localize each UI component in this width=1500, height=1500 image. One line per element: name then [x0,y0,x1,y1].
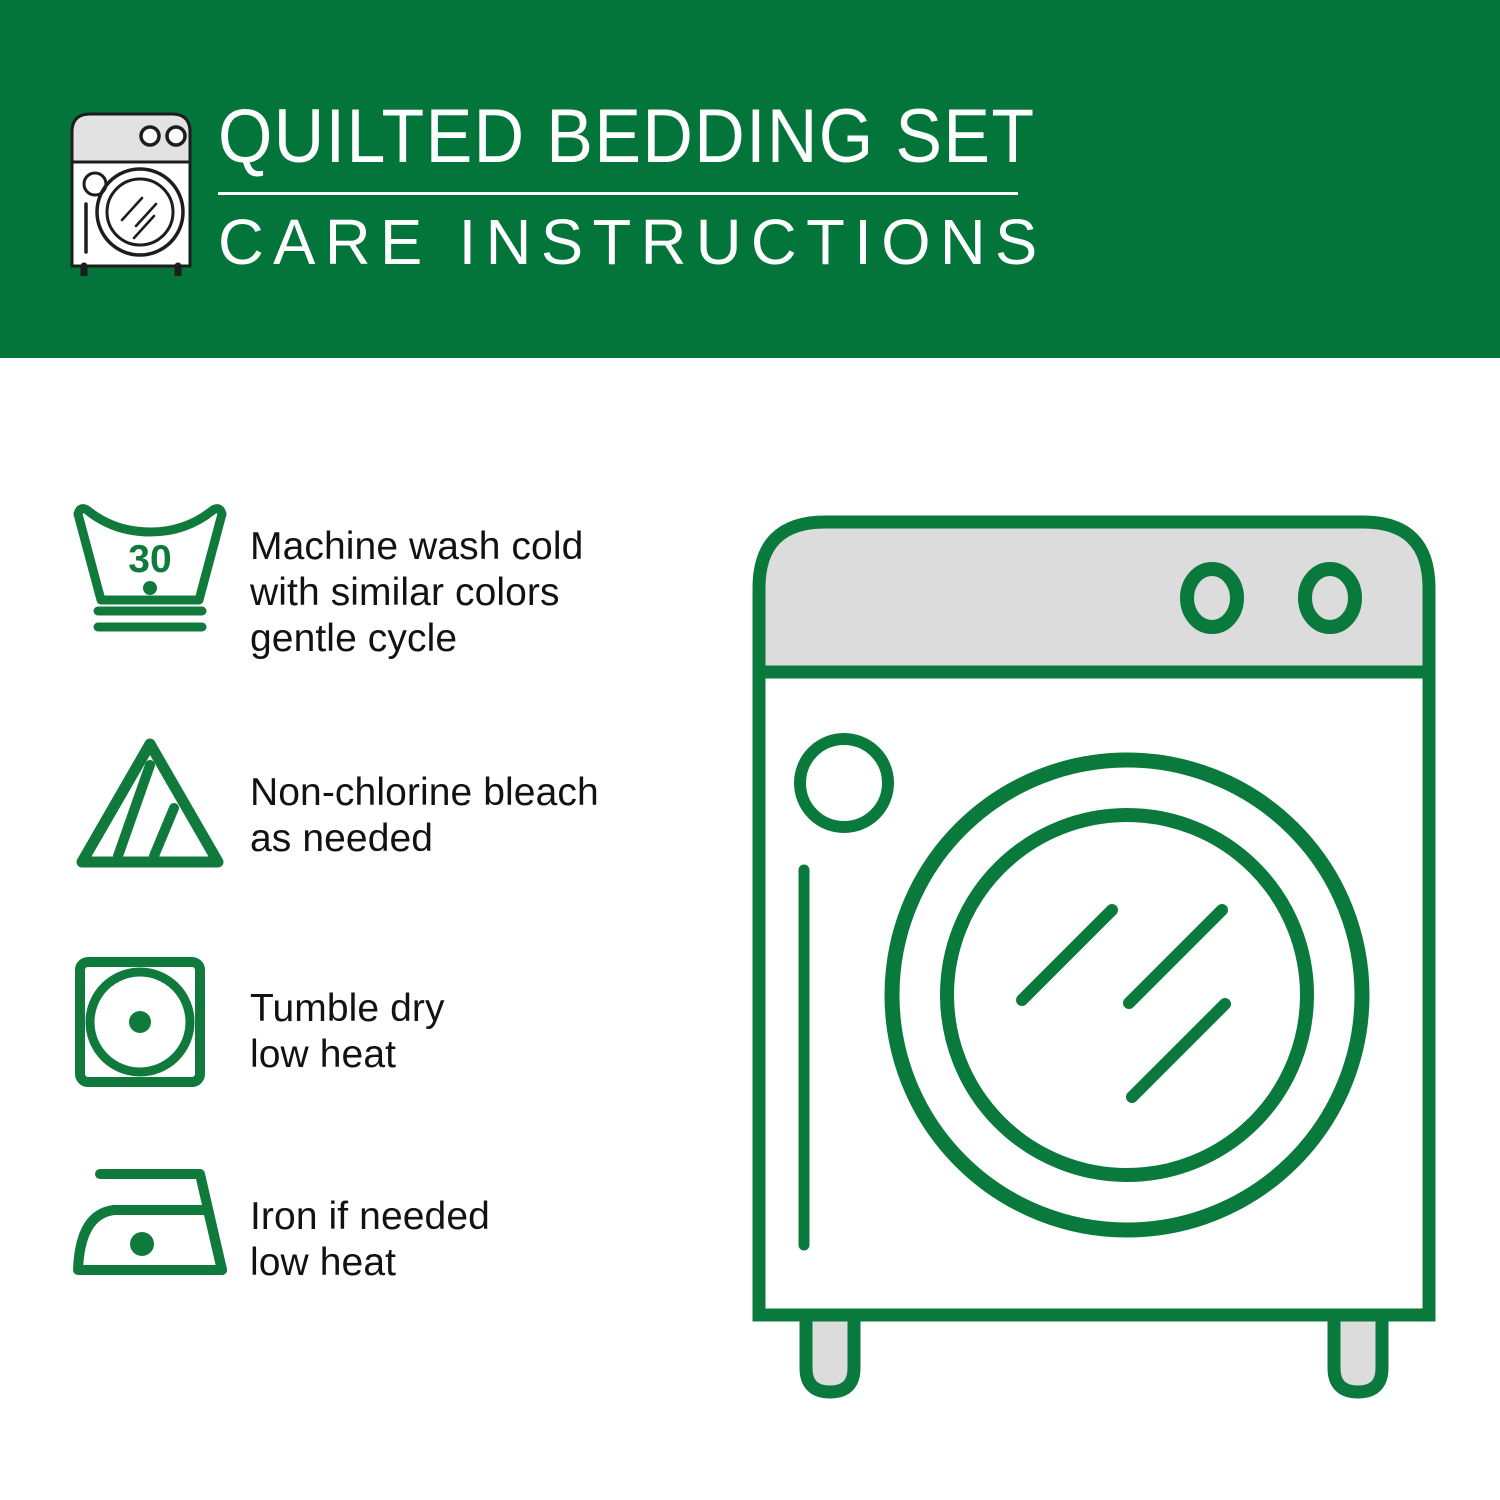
header-title-block: QUILTED BEDDING SET CARE INSTRUCTIONS [218,96,1018,277]
care-row-tumble-dry: Tumble dry low heat [70,952,710,1092]
care-row-iron: Iron if needed low heat [70,1162,710,1286]
wash-temperature-label: 30 [128,538,171,581]
care-label-tumble-dry: Tumble dry low heat [250,952,445,1078]
header-band: QUILTED BEDDING SET CARE INSTRUCTIONS [0,0,1500,358]
care-label-line: Machine wash cold [250,524,583,570]
leg-right [1334,1315,1382,1392]
care-label-iron: Iron if needed low heat [250,1162,490,1286]
care-symbol-cell [70,952,250,1092]
care-label-line: as needed [250,816,599,862]
care-label-line: gentle cycle [250,616,583,662]
knob-right[interactable] [1305,569,1355,627]
care-label-line: with similar colors [250,570,583,616]
iron-low-heat-icon [70,1162,240,1282]
page-title: QUILTED BEDDING SET [218,96,954,178]
care-symbol-cell [70,732,250,874]
front-load-washing-machine-illustration [744,500,1444,1420]
non-chlorine-bleach-triangle-icon [70,732,230,874]
care-label-bleach: Non-chlorine bleach as needed [250,732,599,862]
care-label-line: Non-chlorine bleach [250,770,599,816]
header-content: QUILTED BEDDING SET CARE INSTRUCTIONS [64,96,1018,277]
care-label-line: low heat [250,1240,490,1286]
washing-machine-icon [64,104,204,276]
care-label-machine-wash: Machine wash cold with similar colors ge… [250,500,583,662]
care-label-line: Iron if needed [250,1194,490,1240]
title-divider [218,192,1018,195]
care-label-line: low heat [250,1032,445,1078]
care-row-machine-wash: 30 Machine wash cold with similar colors… [70,500,710,662]
leg-left [806,1315,854,1392]
care-symbol-cell: 30 [70,500,250,632]
care-row-bleach: Non-chlorine bleach as needed [70,732,710,874]
wash-tub-30-gentle-icon: 30 [70,500,230,632]
care-instructions-infographic: QUILTED BEDDING SET CARE INSTRUCTIONS 30 [0,0,1500,1500]
dispenser-indicator [800,739,888,827]
care-label-line: Tumble dry [250,986,445,1032]
care-instructions-list: 30 Machine wash cold with similar colors… [70,500,710,1356]
tumble-dry-low-heat-icon [70,952,210,1092]
knob-left[interactable] [1187,569,1237,627]
care-symbol-cell [70,1162,250,1282]
page-subtitle: CARE INSTRUCTIONS [218,207,1010,277]
